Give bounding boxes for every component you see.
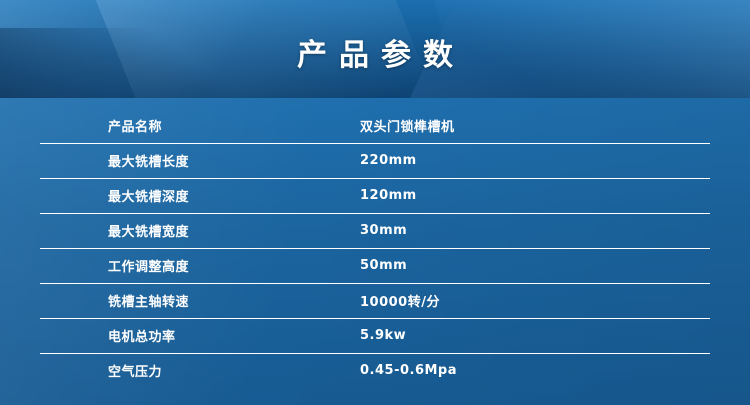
- spec-value: 5.9kw: [350, 318, 710, 353]
- spec-label: 最大铣槽宽度: [40, 213, 350, 248]
- spec-label: 工作调整高度: [40, 248, 350, 283]
- spec-value: 50mm: [350, 248, 710, 283]
- spec-table: 产品名称 双头门锁榫槽机 最大铣槽长度 220mm 最大铣槽深度 120mm 最…: [40, 108, 710, 388]
- spec-body: 产品名称 双头门锁榫槽机 最大铣槽长度 220mm 最大铣槽深度 120mm 最…: [0, 98, 750, 405]
- spec-label: 电机总功率: [40, 318, 350, 353]
- spec-label: 铣槽主轴转速: [40, 283, 350, 318]
- spec-label: 最大铣槽深度: [40, 178, 350, 213]
- spec-value: 双头门锁榫槽机: [350, 108, 710, 143]
- table-row: 工作调整高度 50mm: [40, 248, 710, 283]
- page-title: 产品参数: [0, 30, 750, 74]
- spec-label: 产品名称: [40, 108, 350, 143]
- table-row: 最大铣槽长度 220mm: [40, 143, 710, 178]
- spec-value: 0.45-0.6Mpa: [350, 353, 710, 388]
- table-row: 电机总功率 5.9kw: [40, 318, 710, 353]
- table-row: 铣槽主轴转速 10000转/分: [40, 283, 710, 318]
- spec-value: 10000转/分: [350, 283, 710, 318]
- header-banner: 产品参数: [0, 0, 750, 98]
- table-row: 最大铣槽宽度 30mm: [40, 213, 710, 248]
- product-spec-page: 产品参数 产品名称 双头门锁榫槽机 最大铣槽长度 220mm 最大铣槽深度 12…: [0, 0, 750, 405]
- spec-value: 30mm: [350, 213, 710, 248]
- spec-label: 最大铣槽长度: [40, 143, 350, 178]
- spec-value: 220mm: [350, 143, 710, 178]
- spec-value: 120mm: [350, 178, 710, 213]
- table-row: 最大铣槽深度 120mm: [40, 178, 710, 213]
- table-row: 空气压力 0.45-0.6Mpa: [40, 353, 710, 388]
- spec-label: 空气压力: [40, 353, 350, 388]
- table-row: 产品名称 双头门锁榫槽机: [40, 108, 710, 143]
